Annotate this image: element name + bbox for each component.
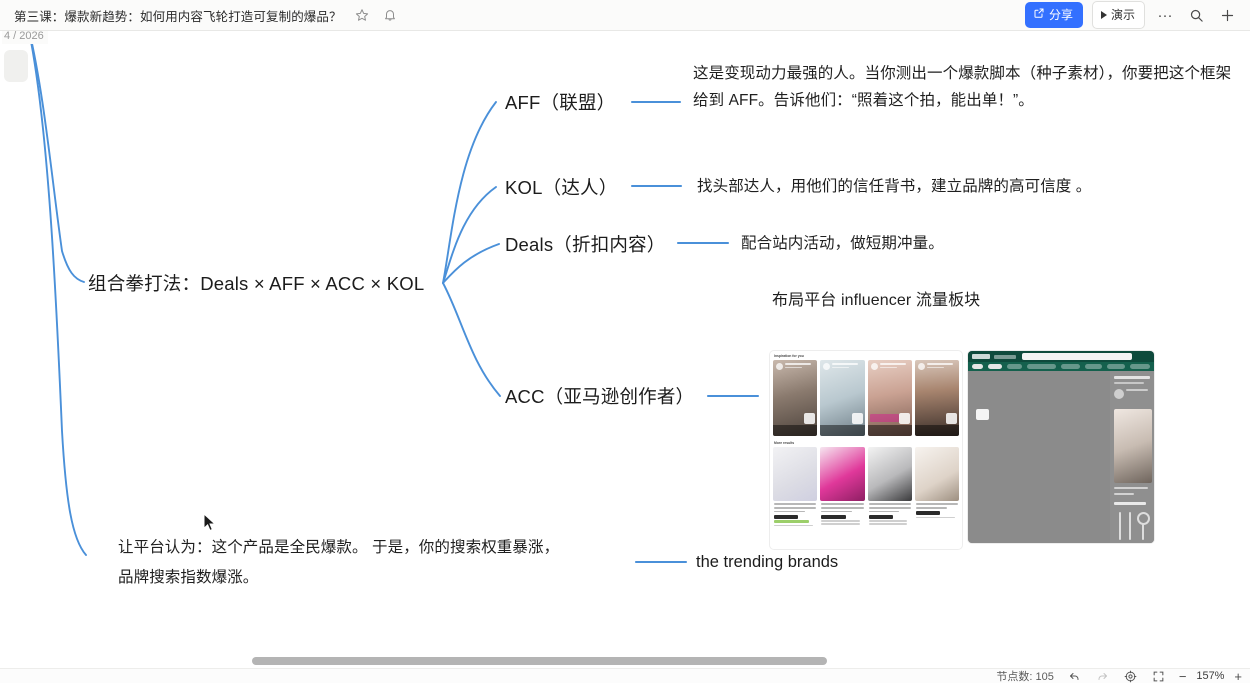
zoom-in-button[interactable]: + xyxy=(1234,670,1242,683)
feed-video-row xyxy=(770,360,962,436)
zoom-level-label[interactable]: 157% xyxy=(1193,670,1227,682)
feed-video-tile[interactable] xyxy=(915,360,959,436)
feed-section-label-1: Inspiration for you xyxy=(770,351,962,360)
feed-video-tile[interactable] xyxy=(773,360,817,436)
amazon-inspiration-feed-screenshot[interactable]: Inspiration for you More results xyxy=(770,351,962,549)
share-external-icon xyxy=(1033,7,1045,22)
shot-cursor-badge xyxy=(976,409,989,420)
undo-icon[interactable] xyxy=(1067,670,1082,683)
product-card[interactable] xyxy=(820,447,864,528)
search-icon[interactable] xyxy=(1185,4,1207,26)
feed-video-tile[interactable] xyxy=(820,360,864,436)
plus-icon[interactable] xyxy=(1216,4,1238,26)
shot-header-bar xyxy=(968,351,1154,362)
more-options-button[interactable]: ··· xyxy=(1154,4,1176,26)
bell-icon[interactable] xyxy=(382,7,398,23)
zoom-controls: − 157% + xyxy=(1179,670,1242,683)
mindmap-node-kol[interactable]: KOL（达人） xyxy=(505,175,617,202)
mindmap-node-aff[interactable]: AFF（联盟） xyxy=(505,90,615,117)
mindmap-desc-aff[interactable]: 这是变现动力最强的人。当你测出一个爆款脚本（种子素材），你要把这个框架给到 AF… xyxy=(693,61,1241,114)
mindmap-desc-kol[interactable]: 找头部达人，用他们的信任背书，建立品牌的高可信度 。 xyxy=(697,176,1091,198)
zoom-out-button[interactable]: − xyxy=(1179,670,1187,683)
product-card[interactable] xyxy=(773,447,817,528)
mindmap-bottom-node-line2[interactable]: 品牌搜索指数爆涨。 xyxy=(118,567,258,589)
top-toolbar: 第三课：爆款新趋势：如何用内容飞轮打造可复制的爆品？ 分享 演示 ··· xyxy=(0,0,1250,31)
mindmap-node-acc[interactable]: ACC（亚马逊创作者） xyxy=(505,384,694,411)
star-icon[interactable] xyxy=(354,7,370,23)
mindmap-connectors xyxy=(0,31,1250,654)
sidebar-collapsed-stub[interactable] xyxy=(4,50,28,82)
horizontal-scrollbar-thumb[interactable] xyxy=(252,657,827,665)
shot-side-rail xyxy=(1110,371,1154,543)
fit-screen-icon[interactable] xyxy=(1151,670,1166,683)
topbar-actions: 分享 演示 ··· xyxy=(1025,1,1250,29)
share-button[interactable]: 分享 xyxy=(1025,2,1083,28)
feed-video-tile[interactable] xyxy=(868,360,912,436)
amazon-creator-page-screenshot[interactable] xyxy=(968,351,1154,543)
mindmap-desc-trending-brands[interactable]: the trending brands xyxy=(696,551,838,575)
feed-section-label-2: More results xyxy=(770,436,962,447)
product-card[interactable] xyxy=(915,447,959,528)
play-icon xyxy=(1101,11,1107,19)
shot-search-field[interactable] xyxy=(1022,353,1132,360)
present-button[interactable]: 演示 xyxy=(1092,1,1145,29)
mindmap-desc-acc[interactable]: 布局平台 influencer 流量板块 xyxy=(772,289,980,312)
amazon-logo-icon xyxy=(972,354,990,359)
shot-body xyxy=(968,371,1154,543)
document-title[interactable]: 第三课：爆款新趋势：如何用内容飞轮打造可复制的爆品？ xyxy=(14,6,342,25)
mindmap-bottom-node-line1[interactable]: 让平台认为：这个产品是全民爆款。 于是，你的搜索权重暴涨， xyxy=(118,537,559,559)
shot-photo xyxy=(1114,409,1152,483)
share-button-label: 分享 xyxy=(1049,6,1073,23)
shot-nav-bar xyxy=(968,362,1154,371)
mindmap-node-deals[interactable]: Deals（折扣内容） xyxy=(505,232,666,259)
shot-product-illustration xyxy=(1114,510,1150,543)
product-card[interactable] xyxy=(868,447,912,528)
status-bar: 节点数: 105 − 157% + xyxy=(0,668,1250,683)
mindmap-center-node[interactable]: 组合拳打法：Deals × AFF × ACC × KOL xyxy=(88,271,424,298)
mouse-cursor xyxy=(203,513,217,532)
node-count-label: 节点数: 105 xyxy=(996,668,1053,683)
feed-product-row xyxy=(770,447,962,528)
redo-icon xyxy=(1095,670,1110,683)
target-icon[interactable] xyxy=(1123,670,1138,683)
mindmap-canvas[interactable]: 组合拳打法：Deals × AFF × ACC × KOL AFF（联盟） KO… xyxy=(0,31,1250,654)
date-label: 4 / 2026 xyxy=(2,29,48,44)
mindmap-desc-deals[interactable]: 配合站内活动，做短期冲量。 xyxy=(741,233,944,255)
present-button-label: 演示 xyxy=(1111,6,1135,23)
